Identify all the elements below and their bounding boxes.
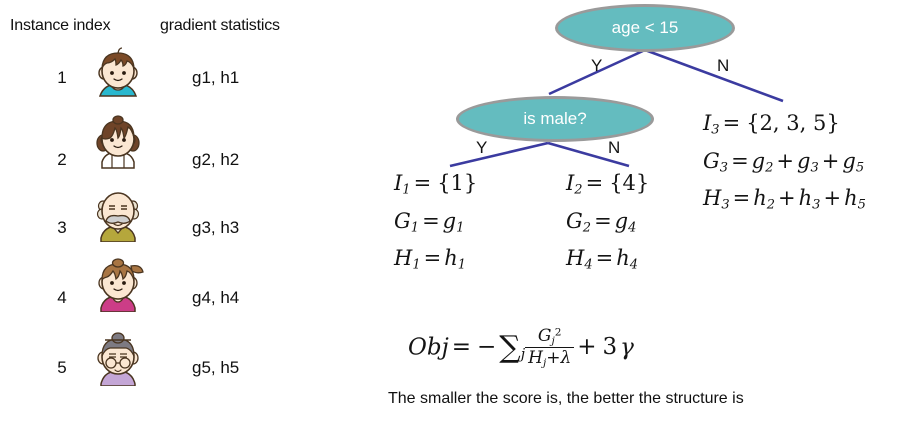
- leaf-2-G: G2=g4: [566, 206, 652, 244]
- leaf-1-H-sub: 1: [412, 258, 420, 273]
- leaf-1-H-eq: =: [421, 246, 445, 270]
- objective-fraction: Gj2Hj+λ: [525, 326, 574, 369]
- leaf-2-G-val: g: [615, 209, 628, 233]
- leaf-3-G-t3s: 5: [856, 160, 864, 175]
- leaf-3-G-t3: g: [842, 149, 855, 173]
- leaf-2-G-eq: =: [591, 209, 615, 233]
- leaf-3-G-plus1: +: [773, 149, 797, 173]
- leaf-1-G-val-sub: 1: [456, 220, 464, 235]
- objective-den-var: H: [528, 348, 543, 368]
- leaf-3-H-t2: h: [799, 186, 813, 210]
- tree-node-is-male-label: is male?: [523, 109, 586, 129]
- row-index-2: 2: [42, 150, 82, 170]
- row-stats-3: g3, h3: [192, 218, 239, 238]
- leaf-3-stats: I3={2, 3, 5} G3=g2+g3+g5 H3=h2+h3+h5: [703, 108, 866, 221]
- leaf-2-H-var: H: [566, 246, 584, 270]
- leaf-3-G: G3=g2+g3+g5: [703, 146, 866, 184]
- leaf-3-G-eq: =: [728, 149, 752, 173]
- leaf-2-G-val-sub: 4: [628, 220, 636, 235]
- leaf-1-H: H1=h1: [394, 243, 480, 281]
- leaf-3-G-sub: 3: [720, 160, 728, 175]
- leaf-2-I-eq: =: [583, 171, 607, 195]
- leaf-2-stats: I2={4} G2=g4 H4=h4: [566, 168, 652, 281]
- objective-tail-gamma: γ: [620, 334, 634, 360]
- leaf-2-G-sub: 2: [583, 220, 591, 235]
- row-stats-2: g2, h2: [192, 150, 239, 170]
- row-index-1: 1: [42, 68, 82, 88]
- leaf-2-I-sub: 2: [574, 183, 582, 198]
- leaf-3-H-eq: =: [730, 186, 754, 210]
- leaf-3-I-eq: =: [720, 111, 744, 135]
- leaf-2-H-eq: =: [593, 246, 617, 270]
- leaf-1-I-eq: =: [411, 171, 435, 195]
- old-woman-avatar: [90, 330, 146, 391]
- leaf-3-H-t1s: 2: [767, 198, 775, 213]
- tree-node-root-label: age < 15: [612, 18, 679, 38]
- objective-num-var: G: [538, 326, 552, 346]
- leaf-2-H-sub: 4: [584, 258, 592, 273]
- boy-avatar-glyph: [90, 46, 146, 102]
- row-stats-1: g1, h1: [192, 68, 239, 88]
- leaf-2-G-var: G: [566, 209, 583, 233]
- objective-lhs: Obj: [408, 334, 449, 360]
- objective-plus: +: [574, 334, 599, 360]
- leaf-3-H-t1: h: [753, 186, 767, 210]
- edge-label-child-no: N: [608, 138, 620, 158]
- girl-avatar-glyph: [90, 114, 146, 170]
- row-index-5: 5: [42, 358, 82, 378]
- objective-equation: Obj=−∑jGj2Hj+λ+3γ: [408, 327, 634, 370]
- leaf-2-H: H4=h4: [566, 243, 652, 281]
- leaf-1-H-var: H: [394, 246, 412, 270]
- old-woman-avatar-glyph: [90, 330, 146, 386]
- leaf-1-I-sub: 1: [402, 183, 410, 198]
- leaf-2-H-val: h: [616, 246, 630, 270]
- leaf-3-instance-set: I3={2, 3, 5}: [703, 108, 866, 146]
- caption-text: The smaller the score is, the better the…: [388, 390, 744, 408]
- leaf-3-G-t2: g: [797, 149, 810, 173]
- leaf-1-G-var: G: [394, 209, 411, 233]
- old-man-avatar: [90, 186, 146, 247]
- leaf-3-I-sub: 3: [711, 123, 719, 138]
- leaf-1-stats: I1={1} G1=g1 H1=h1: [394, 168, 480, 281]
- objective-minus: −: [474, 334, 499, 360]
- row-stats-5: g5, h5: [192, 358, 239, 378]
- leaf-1-instance-set: I1={1}: [394, 168, 480, 206]
- objective-equals: =: [449, 334, 474, 360]
- boy-avatar: [90, 46, 146, 107]
- leaf-3-I-val: {2, 3, 5}: [743, 111, 843, 135]
- leaf-1-H-val-sub: 1: [458, 258, 466, 273]
- row-index-3: 3: [42, 218, 82, 238]
- leaf-1-G-val: g: [443, 209, 456, 233]
- leaf-3-H-t3: h: [844, 186, 858, 210]
- row-stats-4: g4, h4: [192, 288, 239, 308]
- objective-num-sup: 2: [555, 327, 562, 339]
- leaf-3-H-var: H: [703, 186, 721, 210]
- edge-label-root-yes: Y: [591, 56, 602, 76]
- column-header-instance-index: Instance index: [10, 17, 110, 35]
- edge-label-root-no: N: [717, 56, 729, 76]
- leaf-2-H-val-sub: 4: [630, 258, 638, 273]
- leaf-3-H-plus2: +: [820, 186, 844, 210]
- leaf-1-H-val: h: [444, 246, 458, 270]
- tree-node-is-male[interactable]: is male?: [456, 96, 654, 142]
- leaf-3-H-t3s: 5: [858, 198, 866, 213]
- edge-root-no: [645, 50, 783, 101]
- objective-den-plus: +: [546, 348, 560, 368]
- tree-node-root[interactable]: age < 15: [555, 4, 735, 52]
- objective-tail-coeff: 3: [600, 334, 621, 360]
- slide-canvas: Instance index gradient statistics 1 g1,…: [0, 0, 920, 421]
- leaf-2-I-val: {4}: [606, 171, 652, 195]
- leaf-3-G-t2s: 3: [810, 160, 818, 175]
- leaf-3-G-plus2: +: [819, 149, 843, 173]
- row-index-4: 4: [42, 288, 82, 308]
- leaf-3-G-t1: g: [752, 149, 765, 173]
- leaf-3-G-var: G: [703, 149, 720, 173]
- edge-label-child-yes: Y: [476, 138, 487, 158]
- leaf-1-I-val: {1}: [434, 171, 480, 195]
- objective-numerator: Gj2: [525, 326, 574, 347]
- leaf-3-H-plus1: +: [775, 186, 799, 210]
- edge-child-yes: [450, 143, 548, 166]
- objective-denominator: Hj+λ: [525, 347, 574, 369]
- old-man-avatar-glyph: [90, 186, 146, 242]
- leaf-3-H-sub: 3: [721, 198, 729, 213]
- leaf-2-instance-set: I2={4}: [566, 168, 652, 206]
- objective-den-lambda: λ: [560, 348, 571, 368]
- leaf-1-G: G1=g1: [394, 206, 480, 244]
- young-woman-avatar: [90, 256, 146, 317]
- leaf-1-G-eq: =: [419, 209, 443, 233]
- column-header-gradient-statistics: gradient statistics: [160, 17, 280, 35]
- young-woman-avatar-glyph: [90, 256, 146, 312]
- girl-avatar: [90, 114, 146, 175]
- leaf-1-G-sub: 1: [411, 220, 419, 235]
- leaf-3-H: H3=h2+h3+h5: [703, 183, 866, 221]
- summation-icon: ∑: [499, 330, 520, 365]
